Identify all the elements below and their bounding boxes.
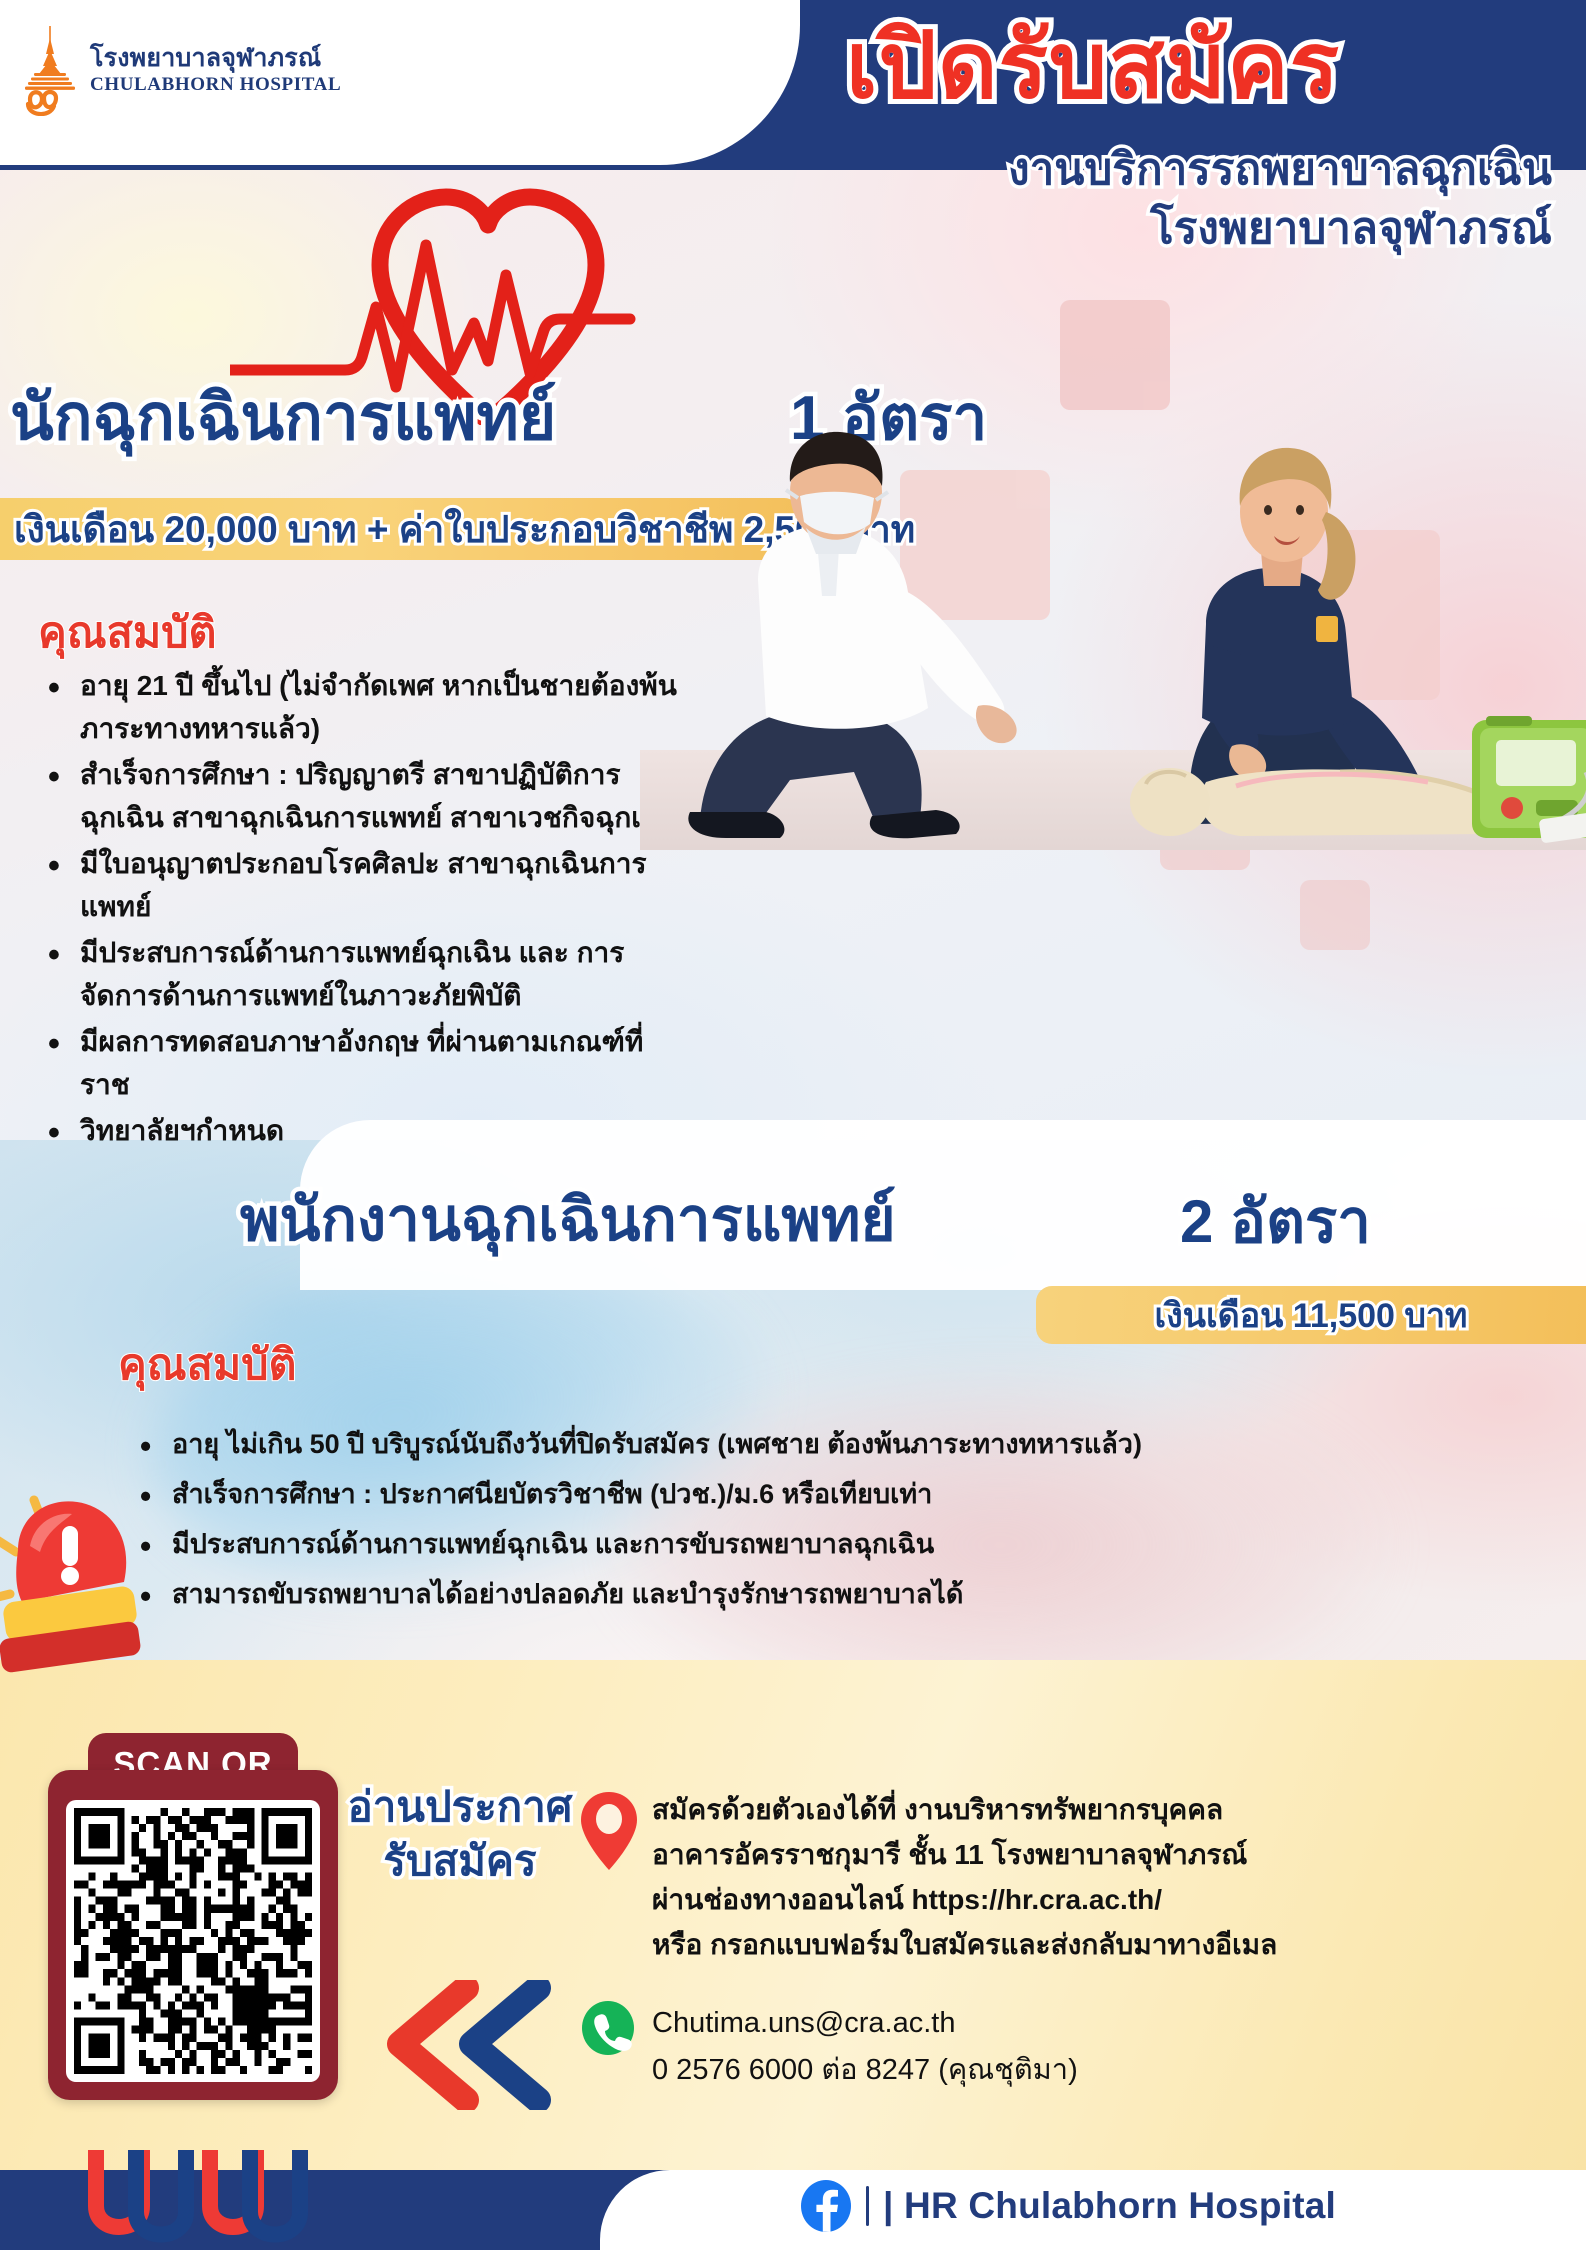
page-title: เปิดรับสมัคร xyxy=(600,12,1586,121)
contact-online-line2: หรือ กรอกแบบฟอร์มใบสมัครและส่งกลับมาทางอ… xyxy=(652,1923,1582,1968)
chulabhorn-emblem-icon xyxy=(20,24,82,116)
recruitment-poster: โรงพยาบาลจุฬาภรณ์ CHULABHORN HOSPITAL เป… xyxy=(0,0,1586,2250)
facebook-icon xyxy=(800,2180,852,2232)
facebook-page-name: | HR Chulabhorn Hospital xyxy=(883,2185,1336,2227)
contact-address-line1: สมัครด้วยตัวเองได้ที่ งานบริหารทรัพยากรบ… xyxy=(652,1788,1582,1833)
job2-salary-banner: เงินเดือน 11,500 บาท xyxy=(1036,1286,1586,1344)
read-announcement-label: อ่านประกาศ รับสมัคร xyxy=(345,1780,575,1888)
list-item: มีใบอนุญาตประกอบโรคศิลปะ สาขาฉุกเฉินการแ… xyxy=(40,843,680,928)
divider xyxy=(866,2186,869,2226)
job2-qualifications-heading: คุณสมบัติ xyxy=(118,1330,296,1398)
phone-icon xyxy=(580,2000,636,2056)
logo-name-en: CHULABHORN HOSPITAL xyxy=(90,75,341,95)
emergency-siren-icon xyxy=(0,1490,200,1720)
job1-qualifications-list: อายุ 21 ปี ขึ้นไป (ไม่จำกัดเพศ หากเป็นชา… xyxy=(40,665,680,1157)
contact-online-line1[interactable]: ผ่านช่องทางออนไลน์ https://hr.cra.ac.th/ xyxy=(652,1878,1582,1923)
heart-ecg-icon xyxy=(230,125,750,425)
contact-online: ผ่านช่องทางออนไลน์ https://hr.cra.ac.th/… xyxy=(652,1878,1582,1968)
location-pin-icon xyxy=(578,1790,640,1872)
job2-qualifications-list: อายุ ไม่เกิน 50 ปี บริบูรณ์นับถึงวันที่ป… xyxy=(130,1420,1450,1620)
list-item: มีผลการทดสอบภาษาอังกฤษ ที่ผ่านตามเกณฑ์ที… xyxy=(40,1021,680,1106)
contact-address-line2: อาคารอัครราชกุมารี ชั้น 11 โรงพยาบาลจุฬา… xyxy=(652,1833,1582,1878)
list-item: สำเร็จการศึกษา : ประกาศนียบัตรวิชาชีพ (ป… xyxy=(130,1470,1450,1520)
contact-email-phone: Chutima.uns@cra.ac.th 0 2576 6000 ต่อ 82… xyxy=(652,2000,1582,2094)
job1-qualifications-heading: คุณสมบัติ xyxy=(38,598,216,666)
list-item: วิทยาลัยฯกำหนด xyxy=(40,1110,680,1153)
qr-code[interactable] xyxy=(66,1800,320,2082)
list-item: สำเร็จการศึกษา : ปริญญาตรี สาขาปฏิบัติกา… xyxy=(40,754,680,839)
read-announcement-line2: รับสมัคร xyxy=(345,1834,575,1888)
facebook-link[interactable]: | HR Chulabhorn Hospital xyxy=(800,2180,1336,2232)
list-item: มีประสบการณ์ด้านการแพทย์ฉุกเฉิน และ การจ… xyxy=(40,932,680,1017)
qr-code-canvas[interactable] xyxy=(74,1808,312,2074)
list-item: อายุ ไม่เกิน 50 ปี บริบูรณ์นับถึงวันที่ป… xyxy=(130,1420,1450,1470)
decor-cross-5 xyxy=(1300,880,1370,950)
hospital-logo: โรงพยาบาลจุฬาภรณ์ CHULABHORN HOSPITAL xyxy=(20,24,341,116)
contact-email[interactable]: Chutima.uns@cra.ac.th xyxy=(652,2000,1582,2047)
double-chevron-left-icon xyxy=(370,1980,580,2110)
decor-cross-1 xyxy=(1060,300,1170,410)
contact-phone: 0 2576 6000 ต่อ 8247 (คุณชุติมา) xyxy=(652,2047,1582,2094)
list-item: สามารถขับรถพยาบาลได้อย่างปลอดภัย และบำรุ… xyxy=(130,1570,1450,1620)
cpr-training-photo xyxy=(640,420,1586,850)
list-item: มีประสบการณ์ด้านการแพทย์ฉุกเฉิน และการขั… xyxy=(130,1520,1450,1570)
job1-title: นักฉุกเฉินการแพทย์ xyxy=(10,385,556,449)
list-item: อายุ 21 ปี ขึ้นไป (ไม่จำกัดเพศ หากเป็นชา… xyxy=(40,665,680,750)
contact-address: สมัครด้วยตัวเองได้ที่ งานบริหารทรัพยากรบ… xyxy=(652,1788,1582,1878)
job2-count: 2 อัตรา xyxy=(1180,1192,1371,1252)
logo-name-th: โรงพยาบาลจุฬาภรณ์ xyxy=(90,45,341,71)
decor-clips xyxy=(60,2150,420,2250)
job2-title: พนักงานฉุกเฉินการแพทย์ xyxy=(240,1190,896,1250)
job2-salary-text: เงินเดือน 11,500 บาท xyxy=(1155,1288,1468,1342)
read-announcement-line1: อ่านประกาศ xyxy=(345,1780,575,1834)
